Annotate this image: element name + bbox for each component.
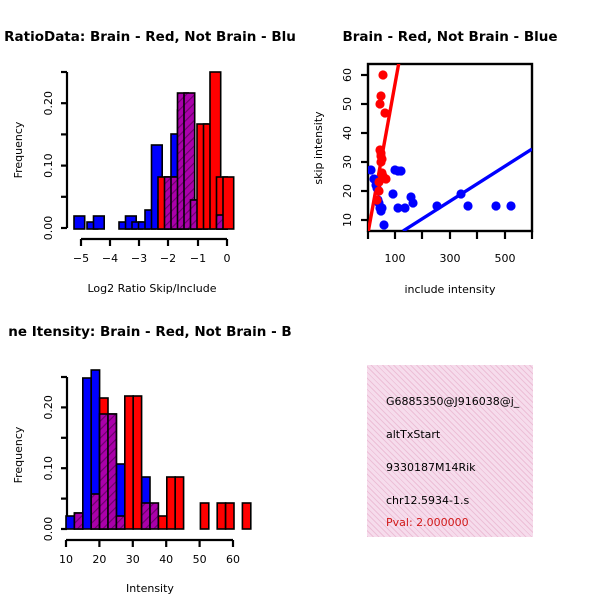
intensity-histogram-x-axis: 10 20 30 40 50 60 Intensity	[59, 540, 240, 595]
ratio-histogram-x-axis: −5 −4 −3 −2 −1 0 Log2 Ratio Skip/Include	[73, 239, 231, 295]
ratio-histogram-panel: RatioData: Brain - Red, Not Brain - Blu …	[0, 0, 300, 310]
event-info-panel: G6885350@J916038@j_ altTxStart 9330187M1…	[367, 365, 533, 537]
scatter-panel: Brain - Red, Not Brain - Blue 10 20 30 4…	[300, 0, 600, 310]
pval-line: Pval: 2.000000	[386, 516, 469, 529]
ratio-histogram-title: RatioData: Brain - Red, Not Brain - Blu	[4, 29, 296, 45]
y-tick-0.10: 0.10	[42, 456, 55, 481]
gene-name-line: 9330187M14Rik	[386, 461, 476, 474]
locus-line: chr12.5934-1.s	[386, 494, 469, 507]
x-tick-300: 300	[440, 252, 461, 265]
intensity-histogram-y-axis: 0.00 0.10 0.20 Frequency	[12, 377, 67, 541]
x-tick--5: −5	[73, 252, 89, 265]
scatter-points-red	[372, 70, 390, 204]
x-tick-10: 10	[59, 553, 73, 566]
y-tick-0.20: 0.20	[42, 91, 55, 116]
ratio-histogram-xlabel: Log2 Ratio Skip/Include	[87, 282, 216, 295]
y-tick-60: 60	[341, 68, 354, 82]
scatter-title: Brain - Red, Not Brain - Blue	[342, 29, 557, 45]
x-tick--3: −3	[131, 252, 147, 265]
intensity-histogram-panel: ne Itensity: Brain - Red, Not Brain - B …	[0, 300, 300, 600]
intensity-histogram-ylabel: Frequency	[12, 426, 25, 483]
event-type-line: altTxStart	[386, 428, 440, 441]
ratio-histogram-y-axis: 0.00 0.10 0.20 Frequency	[12, 72, 67, 240]
x-tick-50: 50	[193, 553, 207, 566]
y-tick-30: 30	[341, 155, 354, 169]
x-tick--1: −1	[190, 252, 206, 265]
ratio-hist-bars-red	[158, 72, 234, 229]
intensity-histogram-title: ne Itensity: Brain - Red, Not Brain - B	[8, 324, 291, 340]
x-tick-0: 0	[224, 252, 231, 265]
y-tick-0.00: 0.00	[42, 216, 55, 241]
event-id-line: G6885350@J916038@j_	[386, 395, 519, 408]
scatter-svg: Brain - Red, Not Brain - Blue 10 20 30 4…	[300, 0, 600, 310]
x-tick-20: 20	[92, 553, 106, 566]
y-tick-20: 20	[341, 184, 354, 198]
x-tick--4: −4	[102, 252, 118, 265]
scatter-xlabel: include intensity	[404, 283, 496, 296]
intensity-histogram-xlabel: Intensity	[126, 582, 174, 595]
scatter-x-axis: 100 300 500 include intensity	[368, 231, 532, 296]
y-tick-50: 50	[341, 97, 354, 111]
y-tick-0.20: 0.20	[42, 395, 55, 420]
x-tick-60: 60	[226, 553, 240, 566]
x-tick-500: 500	[495, 252, 516, 265]
intensity-hist-bars-red	[74, 396, 250, 529]
y-tick-40: 40	[341, 126, 354, 140]
y-tick-0.00: 0.00	[42, 517, 55, 542]
scatter-ylabel: skip intensity	[312, 111, 325, 185]
x-tick--2: −2	[160, 252, 176, 265]
ratio-histogram-ylabel: Frequency	[12, 121, 25, 178]
x-tick-30: 30	[126, 553, 140, 566]
y-tick-10: 10	[341, 213, 354, 227]
intensity-histogram-svg: ne Itensity: Brain - Red, Not Brain - B …	[0, 300, 300, 600]
scatter-y-axis: 10 20 30 40 50 60 skip intensity	[312, 68, 368, 227]
blue-fit-line	[403, 149, 532, 231]
x-tick-40: 40	[159, 553, 173, 566]
ratio-histogram-svg: RatioData: Brain - Red, Not Brain - Blu …	[0, 0, 300, 310]
y-tick-0.10: 0.10	[42, 153, 55, 178]
x-tick-100: 100	[385, 252, 406, 265]
